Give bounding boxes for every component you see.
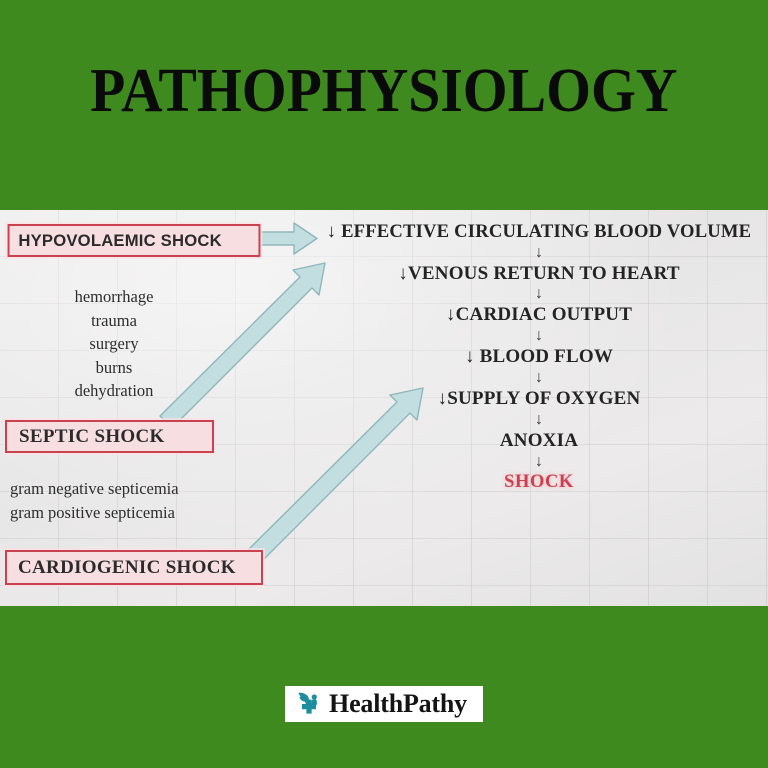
list-item: trauma	[34, 309, 194, 333]
site-logo-text: HealthPathy	[329, 691, 467, 717]
list-item: hemorrhage	[34, 285, 194, 309]
list-item: gram negative septicemia	[10, 477, 250, 501]
causes-list-septic: gram negative septicemia gram positive s…	[10, 477, 250, 524]
page-title: PATHOPHYSIOLOGY	[90, 56, 677, 127]
chain-connector-arrow-icon: ↓	[310, 454, 768, 470]
chain-step-supply-of-oxygen: ↓SUPPLY OF OXYGEN	[310, 389, 768, 409]
health-cross-leaf-icon	[295, 690, 323, 718]
shock-box-septic-label: SEPTIC SHOCK	[19, 426, 165, 448]
causes-list-hypovolaemic: hemorrhage trauma surgery burns dehydrat…	[34, 285, 194, 403]
shock-box-cardiogenic-label: CARDIOGENIC SHOCK	[18, 557, 236, 579]
list-item: burns	[34, 356, 194, 380]
list-item: surgery	[34, 332, 194, 356]
chain-step-cardiac-output: ↓CARDIAC OUTPUT	[310, 305, 768, 325]
footer: HealthPathy	[0, 686, 768, 722]
chain-connector-arrow-icon: ↓	[310, 370, 768, 386]
shock-box-hypovolaemic-label: HYPOVOLAEMIC SHOCK	[18, 231, 221, 251]
title-bar: PATHOPHYSIOLOGY	[0, 0, 768, 210]
chain-connector-arrow-icon: ↓	[310, 328, 768, 344]
site-logo[interactable]: HealthPathy	[285, 686, 483, 722]
chain-connector-arrow-icon: ↓	[310, 412, 768, 428]
poster-root: PATHOPHYSIOLOGY HYPOVOLAEMIC SHOCK SEPTI…	[0, 0, 768, 768]
chain-step-blood-flow: ↓ BLOOD FLOW	[310, 347, 768, 367]
chain-connector-arrow-icon: ↓	[310, 245, 768, 261]
chain-step-anoxia: ANOXIA	[310, 431, 768, 451]
right-arrow-icon	[252, 223, 317, 254]
chain-step-venous-return-to-heart: ↓VENOUS RETURN TO HEART	[310, 264, 768, 284]
chain-connector-arrow-icon: ↓	[310, 286, 768, 302]
chain-step-effective-circulating-blood-volume: ↓ EFFECTIVE CIRCULATING BLOOD VOLUME	[310, 222, 768, 242]
pathophysiology-diagram: HYPOVOLAEMIC SHOCK SEPTIC SHOCK CARDIOGE…	[0, 210, 768, 606]
shock-box-cardiogenic: CARDIOGENIC SHOCK	[5, 550, 263, 585]
shock-box-hypovolaemic: HYPOVOLAEMIC SHOCK	[8, 224, 261, 257]
chain-step-shock: SHOCK	[310, 473, 768, 492]
list-item: dehydration	[34, 379, 194, 403]
pathophysiology-chain: ↓ EFFECTIVE CIRCULATING BLOOD VOLUME ↓ ↓…	[310, 222, 768, 493]
shock-box-septic: SEPTIC SHOCK	[5, 420, 214, 453]
list-item: gram positive septicemia	[10, 501, 250, 525]
